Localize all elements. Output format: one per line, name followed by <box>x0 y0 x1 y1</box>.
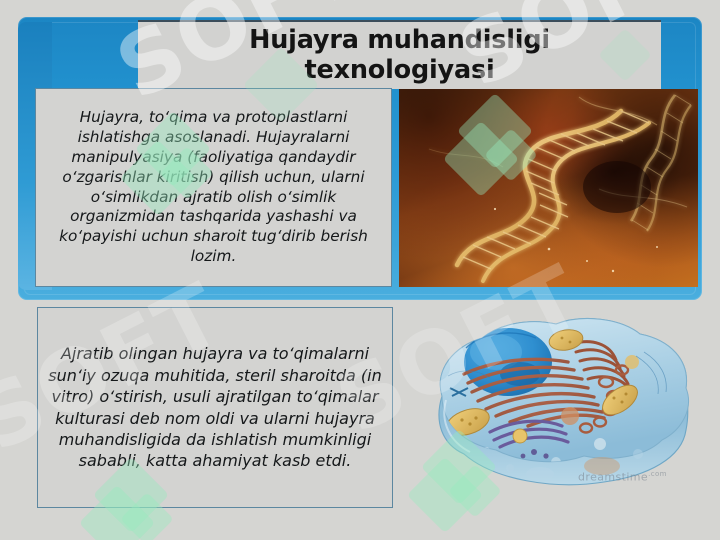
dna-double-helix-photo <box>399 89 698 287</box>
slide-canvas: dreamstime.com Hujayra muhandisligi texn… <box>0 0 720 540</box>
stock-watermark-suffix: .com <box>648 470 667 478</box>
content-textbox-1: Hujayra, to‘qima va protoplastlarni ishl… <box>35 88 392 287</box>
page-title: Hujayra muhandisligi texnologiyasi <box>243 26 556 86</box>
dna-helix-graphic <box>399 89 698 287</box>
slide-title-box: Hujayra muhandisligi texnologiyasi <box>138 20 661 89</box>
stock-watermark: dreamstime.com <box>578 470 667 484</box>
nucleolus <box>500 362 540 386</box>
content-paragraph-1: Hujayra, to‘qima va protoplastlarni ishl… <box>36 108 391 266</box>
content-paragraph-2: Ajratib olingan hujayra va to‘qimalarni … <box>38 343 392 472</box>
stock-watermark-text: dreamstime <box>578 471 648 484</box>
content-textbox-2: Ajratib olingan hujayra va to‘qimalarni … <box>37 307 393 508</box>
